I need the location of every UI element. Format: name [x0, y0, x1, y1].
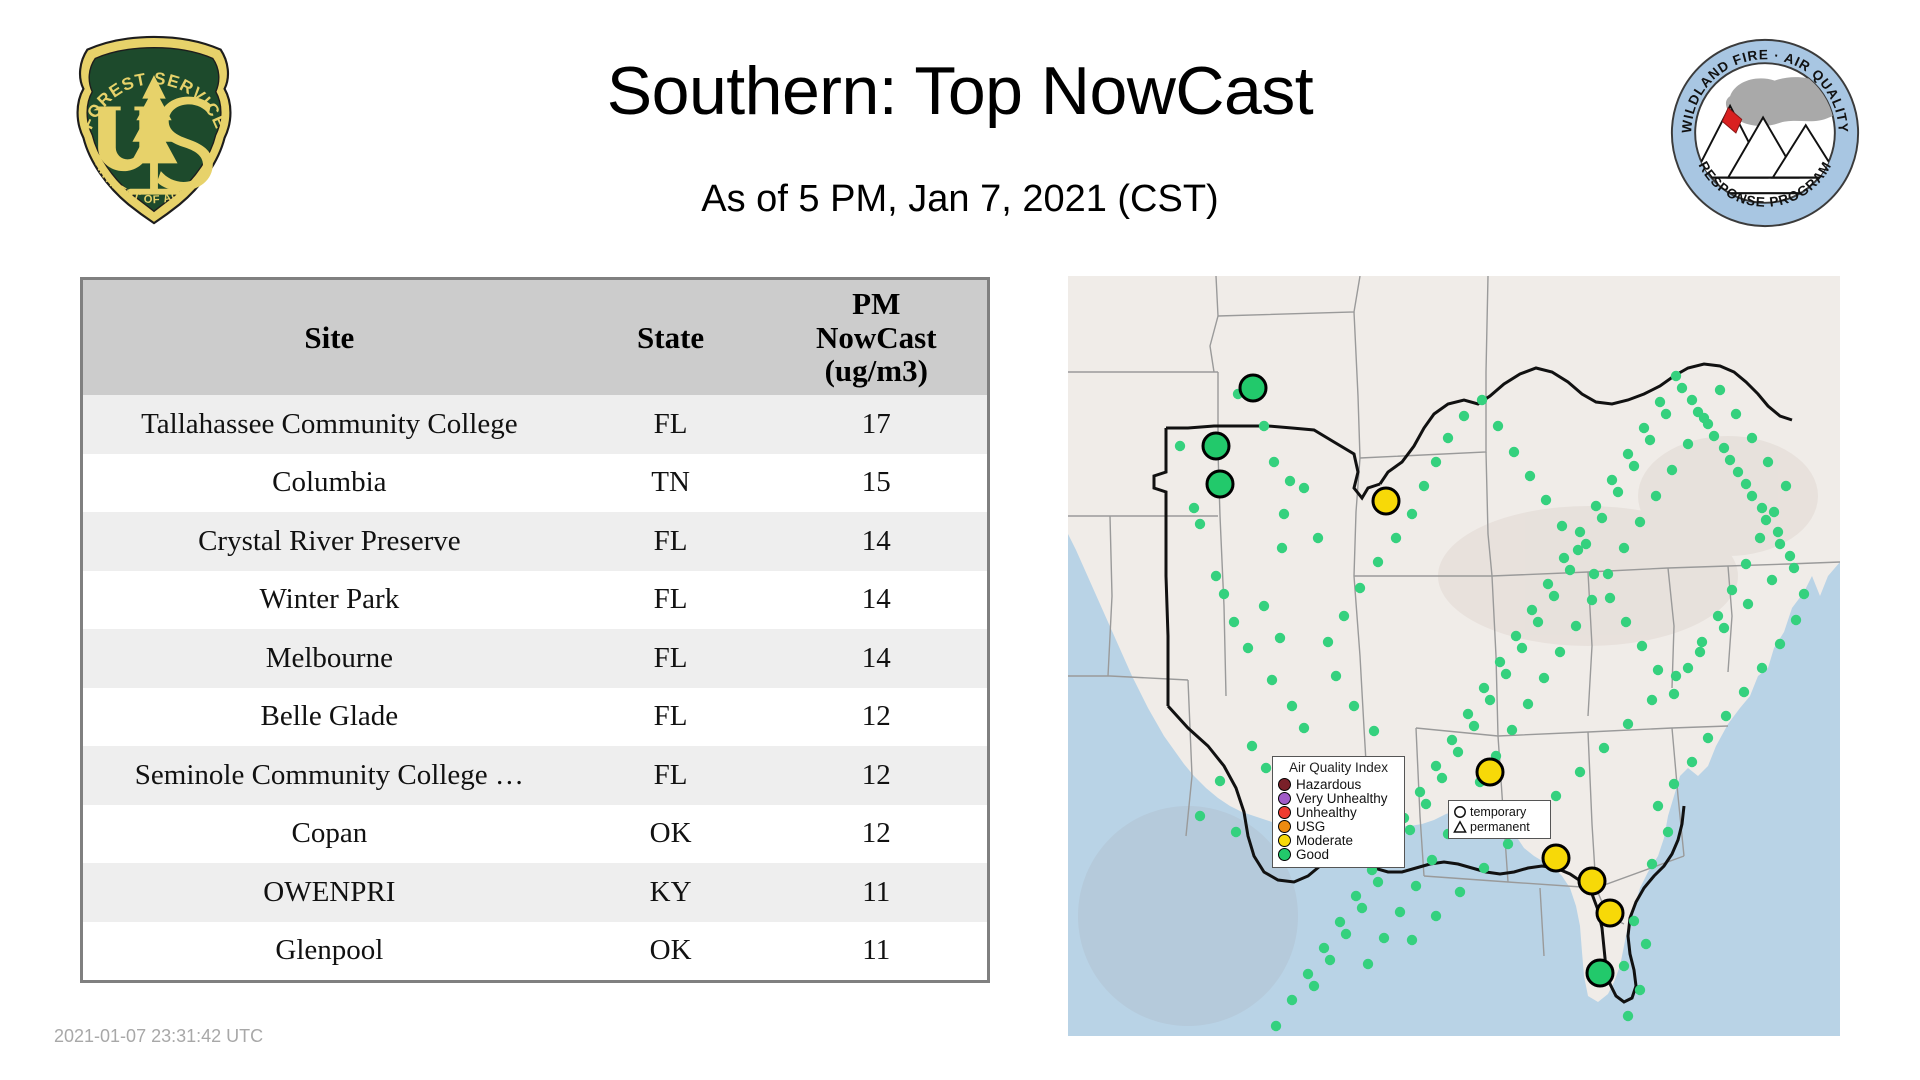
monitor-dot[interactable]	[1431, 761, 1441, 771]
monitor-dot[interactable]	[1743, 599, 1753, 609]
monitor-dot[interactable]	[1517, 643, 1527, 653]
monitor-dot[interactable]	[1719, 623, 1729, 633]
monitor-dot[interactable]	[1407, 509, 1417, 519]
highlighted-site-marker[interactable]	[1579, 868, 1605, 894]
monitor-dot[interactable]	[1495, 657, 1505, 667]
monitor-dot[interactable]	[1703, 733, 1713, 743]
monitor-dot[interactable]	[1637, 641, 1647, 651]
monitor-dot[interactable]	[1271, 1021, 1281, 1031]
cell-site: Columbia	[83, 454, 576, 513]
highlighted-site-marker[interactable]	[1373, 488, 1399, 514]
monitor-dot[interactable]	[1243, 643, 1253, 653]
monitor-dot[interactable]	[1533, 617, 1543, 627]
site-legend-label-permanent: permanent	[1470, 821, 1530, 834]
monitor-dot[interactable]	[1543, 579, 1553, 589]
monitor-dot[interactable]	[1175, 441, 1185, 451]
monitor-dot[interactable]	[1739, 687, 1749, 697]
cell-site: Copan	[83, 805, 576, 864]
monitor-dot[interactable]	[1653, 801, 1663, 811]
page-title: Southern: Top NowCast	[300, 52, 1620, 130]
aqi-legend-label: Very Unhealthy	[1296, 792, 1388, 806]
monitor-dot[interactable]	[1785, 551, 1795, 561]
monitor-dot[interactable]	[1411, 881, 1421, 891]
monitor-dot[interactable]	[1503, 839, 1513, 849]
monitor-dot[interactable]	[1683, 663, 1693, 673]
monitor-dot[interactable]	[1219, 589, 1229, 599]
highlighted-site-marker[interactable]	[1203, 433, 1229, 459]
monitor-dot[interactable]	[1731, 409, 1741, 419]
cell-state: FL	[576, 688, 766, 747]
monitor-dot[interactable]	[1635, 517, 1645, 527]
monitor-dot[interactable]	[1747, 433, 1757, 443]
monitor-dot[interactable]	[1363, 959, 1373, 969]
cell-site: OWENPRI	[83, 863, 576, 922]
table-body: Tallahassee Community CollegeFL17Columbi…	[83, 395, 987, 980]
column-header-site: Site	[83, 280, 576, 395]
monitor-dot[interactable]	[1267, 675, 1277, 685]
monitor-dot[interactable]	[1539, 673, 1549, 683]
monitor-dot[interactable]	[1369, 726, 1379, 736]
table-row[interactable]: Winter ParkFL14	[83, 571, 987, 630]
table-row[interactable]: GlenpoolOK11	[83, 922, 987, 981]
monitor-dot[interactable]	[1755, 533, 1765, 543]
monitor-dot[interactable]	[1757, 503, 1767, 513]
monitor-dot[interactable]	[1415, 787, 1425, 797]
aqi-legend-label: Unhealthy	[1296, 806, 1357, 820]
monitor-dot[interactable]	[1325, 955, 1335, 965]
table-row[interactable]: Tallahassee Community CollegeFL17	[83, 395, 987, 454]
cell-pm-nowcast: 12	[766, 746, 987, 805]
monitor-dot[interactable]	[1357, 903, 1367, 913]
monitor-dot[interactable]	[1275, 633, 1285, 643]
aqi-legend-row: USG	[1278, 820, 1399, 834]
cell-pm-nowcast: 11	[766, 863, 987, 922]
monitor-dot[interactable]	[1195, 811, 1205, 821]
cell-site: Tallahassee Community College	[83, 395, 576, 454]
cell-state: FL	[576, 571, 766, 630]
monitor-dot[interactable]	[1215, 776, 1225, 786]
monitor-dot[interactable]	[1247, 741, 1257, 751]
highlighted-site-marker[interactable]	[1477, 759, 1503, 785]
monitor-dot[interactable]	[1431, 911, 1441, 921]
monitor-dot[interactable]	[1605, 593, 1615, 603]
cell-site: Melbourne	[83, 629, 576, 688]
monitor-dot[interactable]	[1379, 933, 1389, 943]
monitor-dot[interactable]	[1623, 449, 1633, 459]
monitor-dot[interactable]	[1773, 527, 1783, 537]
monitor-dot[interactable]	[1447, 735, 1457, 745]
monitor-dot[interactable]	[1651, 491, 1661, 501]
monitor-dot[interactable]	[1259, 601, 1269, 611]
table-row[interactable]: Crystal River PreserveFL14	[83, 512, 987, 571]
map-canvas	[1068, 276, 1840, 1036]
aqi-legend-row: Very Unhealthy	[1278, 792, 1399, 806]
column-header-pm-line3: (ug/m3)	[766, 354, 987, 387]
table-row[interactable]: Seminole Community College …FL12	[83, 746, 987, 805]
monitor-dot[interactable]	[1335, 917, 1345, 927]
monitor-dot[interactable]	[1613, 487, 1623, 497]
monitor-dot[interactable]	[1653, 665, 1663, 675]
monitor-dot[interactable]	[1763, 457, 1773, 467]
monitor-dot[interactable]	[1339, 611, 1349, 621]
cell-state: FL	[576, 512, 766, 571]
monitor-dot[interactable]	[1687, 395, 1697, 405]
monitor-dot[interactable]	[1713, 611, 1723, 621]
monitor-dot[interactable]	[1527, 605, 1537, 615]
table-header-row: Site State PM NowCast (ug/m3)	[83, 280, 987, 395]
monitor-dot[interactable]	[1721, 711, 1731, 721]
cell-site: Glenpool	[83, 922, 576, 981]
monitor-dot[interactable]	[1459, 411, 1469, 421]
cell-pm-nowcast: 11	[766, 922, 987, 981]
monitor-dot[interactable]	[1453, 747, 1463, 757]
monitor-dot[interactable]	[1575, 527, 1585, 537]
aqi-legend-title: Air Quality Index	[1278, 761, 1399, 776]
aqi-legend-row: Hazardous	[1278, 778, 1399, 792]
column-header-state-label: State	[576, 321, 766, 354]
table-row[interactable]: CopanOK12	[83, 805, 987, 864]
monitor-dot[interactable]	[1591, 501, 1601, 511]
highlighted-site-marker[interactable]	[1543, 845, 1569, 871]
site-legend-row-temporary: temporary	[1453, 805, 1546, 819]
column-header-pm-nowcast: PM NowCast (ug/m3)	[766, 280, 987, 395]
monitor-dot[interactable]	[1733, 467, 1743, 477]
aqi-swatch-icon	[1278, 834, 1291, 847]
monitor-dot[interactable]	[1189, 503, 1199, 513]
aqi-swatch-icon	[1278, 792, 1291, 805]
monitor-dot[interactable]	[1671, 671, 1681, 681]
monitor-dot[interactable]	[1647, 859, 1657, 869]
cell-pm-nowcast: 14	[766, 629, 987, 688]
monitor-dot[interactable]	[1557, 521, 1567, 531]
monitor-dot[interactable]	[1623, 1011, 1633, 1021]
cell-site: Belle Glade	[83, 688, 576, 747]
monitor-dot[interactable]	[1493, 421, 1503, 431]
column-header-pm-line2: NowCast	[766, 321, 987, 354]
monitor-dot[interactable]	[1663, 827, 1673, 837]
monitor-dot[interactable]	[1331, 671, 1341, 681]
monitor-dot[interactable]	[1551, 791, 1561, 801]
aqi-swatch-icon	[1278, 848, 1291, 861]
monitor-dot[interactable]	[1619, 543, 1629, 553]
generation-timestamp: 2021-01-07 23:31:42 UTC	[54, 1026, 263, 1047]
monitor-dot[interactable]	[1719, 443, 1729, 453]
monitor-dot[interactable]	[1313, 533, 1323, 543]
aqi-legend-label: Good	[1296, 848, 1329, 862]
monitor-dot[interactable]	[1269, 457, 1279, 467]
monitor-dot[interactable]	[1373, 877, 1383, 887]
monitor-dot[interactable]	[1581, 539, 1591, 549]
site-legend-label-temporary: temporary	[1470, 806, 1526, 819]
monitor-dot[interactable]	[1195, 519, 1205, 529]
aqi-legend-row: Good	[1278, 848, 1399, 862]
monitor-dot[interactable]	[1355, 583, 1365, 593]
cell-state: TN	[576, 454, 766, 513]
monitor-dot[interactable]	[1623, 719, 1633, 729]
monitor-dot[interactable]	[1669, 689, 1679, 699]
monitor-dot[interactable]	[1677, 383, 1687, 393]
monitor-dot[interactable]	[1781, 481, 1791, 491]
aqi-legend-label: Moderate	[1296, 834, 1353, 848]
monitor-dot[interactable]	[1507, 725, 1517, 735]
cell-pm-nowcast: 12	[766, 805, 987, 864]
monitor-dot[interactable]	[1349, 701, 1359, 711]
monitor-dot[interactable]	[1671, 371, 1681, 381]
monitor-dot[interactable]	[1421, 799, 1431, 809]
site-legend-row-permanent: permanent	[1453, 820, 1546, 834]
monitor-dot[interactable]	[1419, 481, 1429, 491]
southern-region-air-quality-map[interactable]	[1068, 276, 1840, 1036]
monitor-dot[interactable]	[1509, 447, 1519, 457]
monitor-dot[interactable]	[1629, 461, 1639, 471]
monitor-dot[interactable]	[1501, 669, 1511, 679]
monitor-dot[interactable]	[1541, 495, 1551, 505]
cell-pm-nowcast: 17	[766, 395, 987, 454]
monitor-dot[interactable]	[1799, 589, 1809, 599]
monitor-dot[interactable]	[1725, 455, 1735, 465]
triangle-icon	[1453, 820, 1467, 834]
table-row[interactable]: MelbourneFL14	[83, 629, 987, 688]
aqi-legend-row: Moderate	[1278, 834, 1399, 848]
aqi-swatch-icon	[1278, 806, 1291, 819]
highlighted-site-marker[interactable]	[1240, 375, 1266, 401]
monitor-dot[interactable]	[1789, 563, 1799, 573]
monitor-dot[interactable]	[1661, 409, 1671, 419]
monitor-dot[interactable]	[1231, 827, 1241, 837]
column-header-state: State	[576, 280, 766, 395]
cell-pm-nowcast: 14	[766, 571, 987, 630]
monitor-dot[interactable]	[1767, 575, 1777, 585]
cell-pm-nowcast: 12	[766, 688, 987, 747]
monitor-dot[interactable]	[1455, 887, 1465, 897]
slide-root: FOREST SERVICE DEPARTMENT OF AGRICULTURE	[0, 0, 1920, 1080]
cell-pm-nowcast: 14	[766, 512, 987, 571]
cell-state: FL	[576, 395, 766, 454]
monitor-dot[interactable]	[1645, 435, 1655, 445]
monitor-dot[interactable]	[1479, 683, 1489, 693]
monitor-dot[interactable]	[1407, 935, 1417, 945]
aqi-legend-label: USG	[1296, 820, 1325, 834]
cell-state: FL	[576, 629, 766, 688]
column-header-pm-line1: PM	[766, 287, 987, 320]
monitor-dot[interactable]	[1287, 995, 1297, 1005]
monitor-dot[interactable]	[1559, 553, 1569, 563]
monitor-dot[interactable]	[1715, 385, 1725, 395]
monitor-dot[interactable]	[1351, 891, 1361, 901]
monitor-dot[interactable]	[1647, 695, 1657, 705]
monitor-dot[interactable]	[1619, 961, 1629, 971]
monitor-dot[interactable]	[1211, 571, 1221, 581]
monitor-dot[interactable]	[1299, 723, 1309, 733]
table-row[interactable]: ColumbiaTN15	[83, 454, 987, 513]
monitor-dot[interactable]	[1587, 595, 1597, 605]
cell-site: Seminole Community College …	[83, 746, 576, 805]
monitor-dot[interactable]	[1549, 591, 1559, 601]
monitor-dot[interactable]	[1479, 863, 1489, 873]
circle-icon	[1453, 805, 1467, 819]
column-header-site-label: Site	[83, 321, 576, 354]
monitor-dot[interactable]	[1669, 779, 1679, 789]
monitor-dot[interactable]	[1769, 507, 1779, 517]
monitor-dot[interactable]	[1775, 539, 1785, 549]
monitor-dot[interactable]	[1629, 916, 1639, 926]
table-row[interactable]: OWENPRIKY11	[83, 863, 987, 922]
cell-pm-nowcast: 15	[766, 454, 987, 513]
monitor-dot[interactable]	[1695, 647, 1705, 657]
monitor-dot[interactable]	[1437, 773, 1447, 783]
monitor-dot[interactable]	[1599, 743, 1609, 753]
monitor-dot[interactable]	[1323, 637, 1333, 647]
monitor-dot[interactable]	[1405, 825, 1415, 835]
wildland-fire-air-quality-response-program-logo: WILDLAND FIRE · AIR QUALITY RESPONSE PRO…	[1668, 36, 1862, 230]
monitor-dot[interactable]	[1761, 515, 1771, 525]
monitor-dot[interactable]	[1341, 929, 1351, 939]
aqi-swatch-icon	[1278, 778, 1291, 791]
monitor-dot[interactable]	[1259, 421, 1269, 431]
aqi-swatch-icon	[1278, 820, 1291, 833]
site-type-legend: temporary permanent	[1448, 800, 1551, 839]
highlighted-site-marker[interactable]	[1597, 900, 1623, 926]
page-subtitle: As of 5 PM, Jan 7, 2021 (CST)	[300, 178, 1620, 221]
monitor-dot[interactable]	[1565, 565, 1575, 575]
monitor-dot[interactable]	[1395, 907, 1405, 917]
monitor-dot[interactable]	[1523, 699, 1533, 709]
monitor-dot[interactable]	[1697, 637, 1707, 647]
monitor-dot[interactable]	[1287, 701, 1297, 711]
monitor-dot[interactable]	[1597, 513, 1607, 523]
air-quality-index-legend: Air Quality Index HazardousVery Unhealth…	[1272, 756, 1405, 868]
monitor-dot[interactable]	[1463, 709, 1473, 719]
monitor-dot[interactable]	[1655, 397, 1665, 407]
monitor-dot[interactable]	[1757, 663, 1767, 673]
monitor-dot[interactable]	[1703, 419, 1713, 429]
cell-state: OK	[576, 805, 766, 864]
monitor-dot[interactable]	[1309, 981, 1319, 991]
aqi-legend-row: Unhealthy	[1278, 806, 1399, 820]
monitor-dot[interactable]	[1727, 585, 1737, 595]
monitor-dot[interactable]	[1775, 639, 1785, 649]
monitor-dot[interactable]	[1511, 631, 1521, 641]
cell-site: Winter Park	[83, 571, 576, 630]
forest-service-shield-logo: FOREST SERVICE DEPARTMENT OF AGRICULTURE	[56, 32, 252, 228]
monitor-dot[interactable]	[1607, 475, 1617, 485]
monitor-dot[interactable]	[1741, 479, 1751, 489]
monitor-dot[interactable]	[1277, 543, 1287, 553]
monitor-dot[interactable]	[1791, 615, 1801, 625]
monitor-dot[interactable]	[1261, 763, 1271, 773]
top-nowcast-table: Site State PM NowCast (ug/m3) Tallahasse…	[80, 277, 990, 983]
monitor-dot[interactable]	[1683, 439, 1693, 449]
monitor-dot[interactable]	[1319, 943, 1329, 953]
monitor-dot[interactable]	[1485, 695, 1495, 705]
monitor-dot[interactable]	[1687, 757, 1697, 767]
cell-state: KY	[576, 863, 766, 922]
cell-state: OK	[576, 922, 766, 981]
cell-site: Crystal River Preserve	[83, 512, 576, 571]
monitor-dot[interactable]	[1709, 431, 1719, 441]
monitor-dot[interactable]	[1575, 767, 1585, 777]
monitor-dot[interactable]	[1285, 476, 1295, 486]
monitor-dot[interactable]	[1639, 423, 1649, 433]
monitor-dot[interactable]	[1443, 433, 1453, 443]
monitor-dot[interactable]	[1469, 721, 1479, 731]
monitor-dot[interactable]	[1741, 559, 1751, 569]
monitor-dot[interactable]	[1279, 509, 1289, 519]
monitor-dot[interactable]	[1303, 969, 1313, 979]
monitor-dot[interactable]	[1747, 491, 1757, 501]
monitor-dot[interactable]	[1431, 457, 1441, 467]
monitor-dot[interactable]	[1373, 557, 1383, 567]
highlighted-site-marker[interactable]	[1587, 960, 1613, 986]
monitor-dot[interactable]	[1477, 395, 1487, 405]
monitor-dot[interactable]	[1589, 569, 1599, 579]
monitor-dot[interactable]	[1299, 483, 1309, 493]
monitor-dot[interactable]	[1667, 465, 1677, 475]
monitor-dot[interactable]	[1525, 471, 1535, 481]
highlighted-site-marker[interactable]	[1207, 471, 1233, 497]
monitor-dot[interactable]	[1603, 569, 1613, 579]
monitor-dot[interactable]	[1571, 621, 1581, 631]
monitor-dot[interactable]	[1555, 647, 1565, 657]
aqi-legend-label: Hazardous	[1296, 778, 1361, 792]
monitor-dot[interactable]	[1229, 617, 1239, 627]
cell-state: FL	[576, 746, 766, 805]
monitor-dot[interactable]	[1641, 939, 1651, 949]
monitor-dot[interactable]	[1635, 985, 1645, 995]
monitor-dot[interactable]	[1427, 855, 1437, 865]
monitor-dot[interactable]	[1391, 533, 1401, 543]
table-row[interactable]: Belle GladeFL12	[83, 688, 987, 747]
monitor-dot[interactable]	[1621, 617, 1631, 627]
monitor-dot[interactable]	[1693, 407, 1703, 417]
